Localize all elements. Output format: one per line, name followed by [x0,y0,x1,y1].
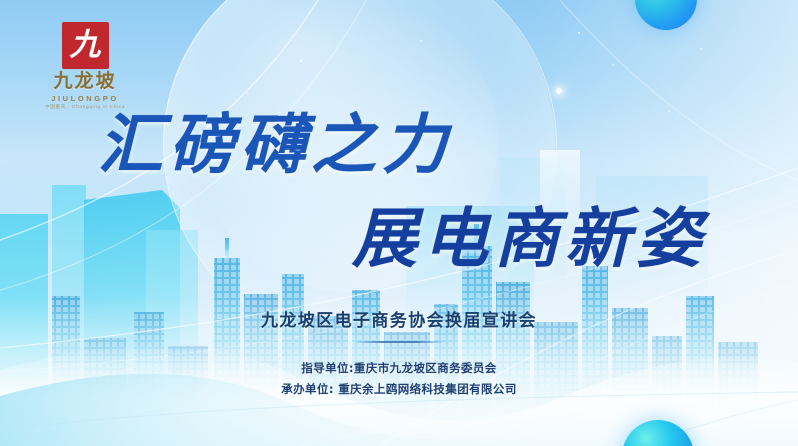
accent-sphere-top [635,0,697,30]
sparkle-dot [668,110,670,112]
event-poster: 九 九龙坡 JIULONGPO 中国重庆 · Chongqing in Chin… [0,0,798,446]
event-subtitle: 九龙坡区电子商务协会换届宣讲会 [0,306,798,331]
subtitle-divider [356,341,442,343]
logo-name: 九龙坡 [27,72,143,92]
jiulongpo-logo: 九 九龙坡 JIULONGPO 中国重庆 · Chongqing in Chin… [27,22,143,102]
background-block-4 [146,230,198,446]
sparkle-dot [246,92,248,94]
sparkle-dot [612,64,614,66]
sparkle-dot [700,48,702,50]
city-skyline-graphic [0,146,798,446]
sparkle-dot [300,60,302,62]
sparkle-dot [420,40,422,42]
accent-sphere-bottom [622,420,694,446]
sparkle-dot [556,88,562,94]
credit-hosting-unit: 承办单位: 重庆余上鸥网络科技集团有限公司 [0,381,798,397]
sparkle-dot [578,32,580,34]
headline-line-1: 汇磅礴之力 [98,113,453,178]
credit-guiding-unit: 指导单位:重庆市九龙坡区商务委员会 [0,360,798,376]
headline-line-2: 展电商新姿 [352,207,707,272]
logo-mark-glyph: 九 [62,29,109,60]
logo-mark-icon: 九 [62,22,109,69]
logo-pinyin: JIULONGPO [27,94,143,103]
